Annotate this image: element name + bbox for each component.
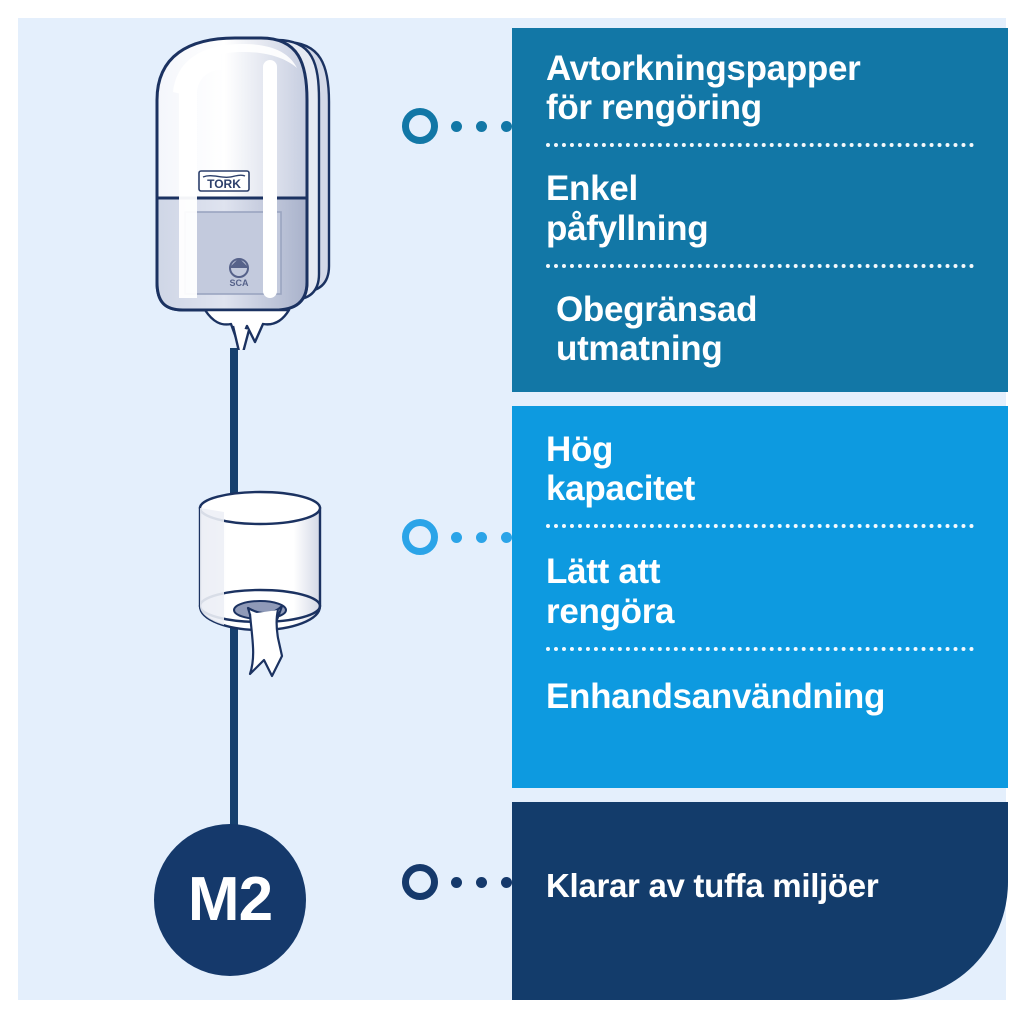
feature-item: Enkel påfyllning	[546, 147, 974, 247]
feature-line: utmatning	[556, 329, 974, 368]
feature-line: Enhandsanvändning	[546, 677, 974, 716]
feature-line: kapacitet	[546, 469, 974, 508]
feature-line: för rengöring	[546, 88, 974, 127]
panel-refill-features: Hög kapacitet Lätt att rengöra Enhandsan…	[512, 406, 1008, 788]
tork-logo: TORK	[199, 171, 249, 191]
infographic-root: TORK SCA	[0, 0, 1024, 1024]
connector-ring-icon	[402, 864, 438, 900]
panel-system-features: Klarar av tuffa miljöer	[512, 802, 1008, 1000]
feature-line: Hög	[546, 430, 974, 469]
feature-item: Lätt att rengöra	[546, 528, 974, 630]
system-badge-m2: M2	[154, 824, 306, 976]
feature-line: påfyllning	[546, 209, 974, 248]
illustration-column: TORK SCA	[18, 18, 488, 1000]
paper-roll-illustration	[178, 478, 348, 688]
svg-text:TORK: TORK	[207, 177, 241, 191]
feature-line: rengöra	[546, 592, 974, 631]
connector-ring-icon	[402, 108, 438, 144]
feature-line: Enkel	[546, 169, 974, 208]
dispenser-illustration: TORK SCA	[143, 30, 343, 350]
feature-item: Avtorkningspapper för rengöring	[546, 28, 974, 127]
feature-line: Avtorkningspapper	[546, 49, 974, 88]
feature-line: Obegränsad	[556, 290, 974, 329]
svg-text:SCA: SCA	[229, 278, 249, 288]
connector-ring-icon	[402, 519, 438, 555]
feature-line: Klarar av tuffa miljöer	[546, 868, 974, 905]
panel-dispenser-features: Avtorkningspapper för rengöring Enkel på…	[512, 28, 1008, 392]
feature-item: Enhandsanvändning	[546, 651, 974, 716]
feature-item: Obegränsad utmatning	[546, 268, 974, 368]
feature-item: Klarar av tuffa miljöer	[546, 802, 974, 905]
feature-item: Hög kapacitet	[546, 406, 974, 508]
badge-label: M2	[188, 869, 272, 931]
feature-line: Lätt att	[546, 552, 974, 591]
